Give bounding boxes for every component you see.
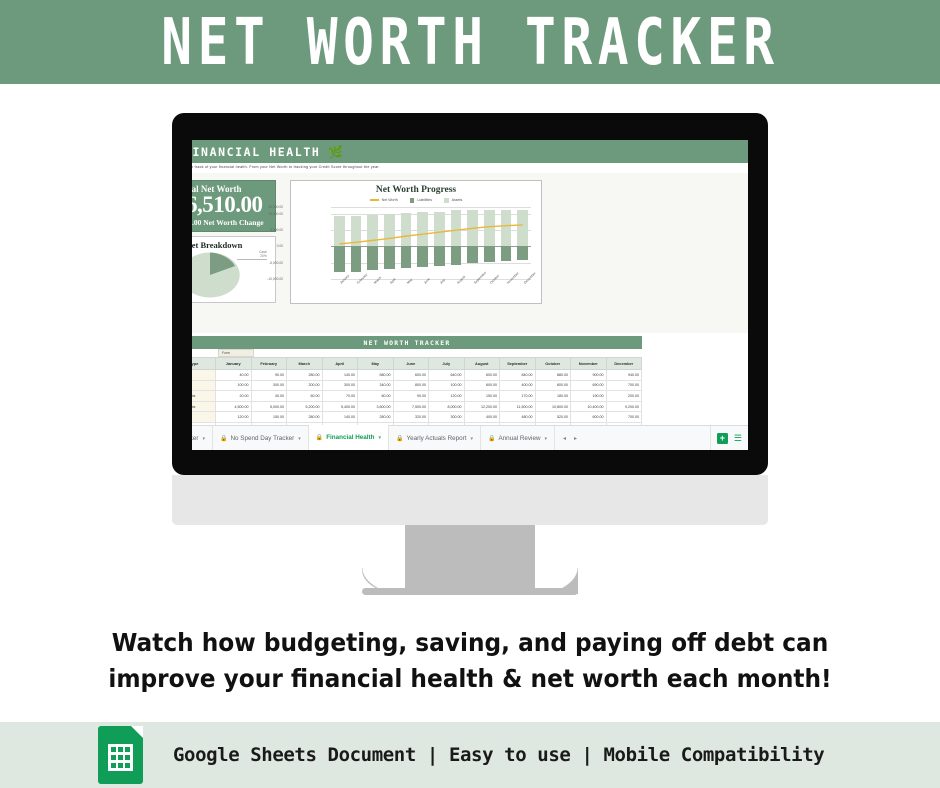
table-cell-value[interactable]: 190.00 bbox=[571, 391, 607, 402]
table-cell-type[interactable]: Investments bbox=[192, 391, 216, 402]
add-sheet-button[interactable]: + bbox=[717, 433, 728, 444]
sheet-tab-no-spend-day-tracker[interactable]: 🔒No Spend Day Tracker▾ bbox=[213, 426, 309, 450]
table-row[interactable]: Investments4,500.005,000.005,200.005,400… bbox=[192, 401, 642, 412]
table-cell-value[interactable]: 150.00 bbox=[251, 412, 287, 423]
table-cell-value[interactable]: 690.00 bbox=[571, 380, 607, 391]
table-cell-value[interactable]: 800.00 bbox=[393, 380, 429, 391]
table-cell-value[interactable]: 5,000.00 bbox=[251, 401, 287, 412]
table-cell-value[interactable]: 600.00 bbox=[464, 370, 500, 381]
table-row[interactable]: Investments20.0040.0060.0070.0080.0090.0… bbox=[192, 391, 642, 402]
table-cell-value[interactable]: 300.00 bbox=[429, 412, 465, 423]
legend-label: Assets bbox=[452, 198, 463, 202]
net-worth-progress-chart: Net Worth Progress Net Worth Liabilities bbox=[290, 180, 542, 304]
sheet-tab-list: racker▾🔒No Spend Day Tracker▾🔒Financial … bbox=[192, 425, 555, 450]
table-column-header: November bbox=[571, 358, 607, 370]
table-cell-value[interactable]: 580.00 bbox=[358, 370, 394, 381]
table-cell-value[interactable]: 40.00 bbox=[216, 370, 252, 381]
lock-icon: 🔒 bbox=[220, 436, 227, 442]
legend-item-net-worth: Net Worth bbox=[370, 198, 398, 202]
table-column-header: October bbox=[535, 358, 571, 370]
table-cell-type[interactable]: Cash bbox=[192, 380, 216, 391]
table-cell-type[interactable]: Cash bbox=[192, 370, 216, 381]
table-cell-value[interactable]: 300.00 bbox=[322, 380, 358, 391]
table-cell-value[interactable]: 70.00 bbox=[322, 391, 358, 402]
table-title: NET WORTH TRACKER bbox=[192, 336, 642, 349]
table-cell-value[interactable]: 10,800.00 bbox=[535, 401, 571, 412]
sheet-tab-nav[interactable]: ◂ ▸ bbox=[563, 435, 577, 442]
table-cell-value[interactable]: 400.00 bbox=[464, 412, 500, 423]
icon-page-fold bbox=[131, 726, 143, 738]
footer-text: Google Sheets Document | Easy to use | M… bbox=[173, 744, 824, 766]
pie-slice-label: Cash20% bbox=[259, 251, 267, 259]
poster-root: NET WORTH TRACKER FINANCIAL HEALTH 🌿 Kee… bbox=[0, 0, 940, 788]
chevron-down-icon[interactable]: ▾ bbox=[379, 435, 382, 441]
caption-line-2: improve your financial health & net wort… bbox=[33, 661, 907, 697]
table-column-header: December bbox=[606, 358, 642, 370]
legend-color-swatch bbox=[444, 198, 449, 203]
chart-title: Net Worth Progress bbox=[291, 185, 541, 195]
caption-line-1: Watch how budgeting, saving, and paying … bbox=[33, 625, 907, 661]
chevron-down-icon[interactable]: ▾ bbox=[545, 436, 548, 442]
chevron-down-icon[interactable]: ▾ bbox=[298, 436, 301, 442]
table-cell-value[interactable]: 280.00 bbox=[358, 412, 394, 423]
table-cell-value[interactable]: 400.00 bbox=[500, 380, 536, 391]
formula-hint-cell: Form bbox=[218, 349, 254, 357]
table-column-header: April bbox=[322, 358, 358, 370]
table-cell-value[interactable]: 3,600.00 bbox=[358, 401, 394, 412]
chart-y-tick-label: -5,000.00 bbox=[269, 261, 283, 265]
net-worth-change-value: $450.00 Net Worth Change bbox=[192, 218, 264, 227]
table-header-row: TypeJanuaryFebruaryMarchAprilMayJuneJuly… bbox=[192, 358, 642, 370]
monitor-stand-base bbox=[362, 588, 578, 595]
table-cell-value[interactable]: 90.00 bbox=[393, 391, 429, 402]
pie-leader-line bbox=[237, 259, 267, 260]
table-cell-value[interactable]: 4,500.00 bbox=[216, 401, 252, 412]
table-cell-value[interactable]: 520.00 bbox=[535, 412, 571, 423]
table-column-header: September bbox=[500, 358, 536, 370]
legend-item-assets: Assets bbox=[444, 198, 462, 203]
sheet-tab-bar: racker▾🔒No Spend Day Tracker▾🔒Financial … bbox=[192, 425, 748, 450]
table-cell-value[interactable]: 480.00 bbox=[500, 412, 536, 423]
sheet-tab-label: Yearly Actuals Report bbox=[407, 435, 467, 442]
google-sheets-icon bbox=[98, 726, 143, 784]
table-cell-value[interactable]: 600.00 bbox=[393, 370, 429, 381]
chart-legend: Net Worth Liabilities Assets bbox=[291, 198, 541, 203]
table-cell-value[interactable]: 300.00 bbox=[251, 380, 287, 391]
table-cell-value[interactable]: 120.00 bbox=[429, 391, 465, 402]
legend-item-liabilities: Liabilities bbox=[410, 198, 432, 203]
table-cell-value[interactable]: 800.00 bbox=[535, 380, 571, 391]
monitor-chin bbox=[172, 475, 768, 525]
table-cell-value[interactable]: 640.00 bbox=[429, 370, 465, 381]
table-column-header: January bbox=[216, 358, 252, 370]
table-cell-value[interactable]: 600.00 bbox=[464, 380, 500, 391]
sheet-tab-label: racker bbox=[192, 435, 199, 442]
chart-line-net-worth bbox=[331, 207, 531, 279]
legend-label: Net Worth bbox=[382, 198, 398, 202]
table-cell-value[interactable]: 940.00 bbox=[606, 370, 642, 381]
legend-label: Liabilities bbox=[417, 198, 432, 202]
sheet-tab-annual-review[interactable]: 🔒Annual Review▾ bbox=[481, 426, 555, 450]
leaf-icon: 🌿 bbox=[328, 146, 343, 158]
asset-breakdown-title: Asset Breakdown bbox=[192, 240, 242, 250]
table-cell-value[interactable]: 320.00 bbox=[393, 412, 429, 423]
table-cell-value[interactable]: 11,500.00 bbox=[500, 401, 536, 412]
table-cell-value[interactable]: 100.00 bbox=[216, 380, 252, 391]
table-cell-value[interactable]: 100.00 bbox=[429, 380, 465, 391]
table-column-header: February bbox=[251, 358, 287, 370]
table-cell-value[interactable]: 7,500.00 bbox=[393, 401, 429, 412]
table-cell-value[interactable]: 170.00 bbox=[500, 391, 536, 402]
table-cell-type[interactable]: Cash bbox=[192, 412, 216, 423]
sheet-section-subtitle: Keep track of your financial health. Fro… bbox=[192, 165, 724, 169]
monitor-mockup: FINANCIAL HEALTH 🌿 Keep track of your fi… bbox=[172, 113, 768, 475]
chevron-down-icon[interactable]: ▾ bbox=[203, 436, 206, 442]
table-cell-value[interactable]: 90.00 bbox=[251, 370, 287, 381]
table-row[interactable]: Cash100.00300.00200.00300.00340.00800.00… bbox=[192, 380, 642, 391]
table-cell-value[interactable]: 700.00 bbox=[606, 412, 642, 423]
table-column-header: March bbox=[287, 358, 323, 370]
spreadsheet-canvas: FINANCIAL HEALTH 🌿 Keep track of your fi… bbox=[192, 140, 748, 450]
monitor-screen: FINANCIAL HEALTH 🌿 Keep track of your fi… bbox=[192, 140, 748, 450]
sheet-section-title: FINANCIAL HEALTH bbox=[192, 145, 320, 159]
table-cell-value[interactable]: 700.00 bbox=[606, 380, 642, 391]
total-net-worth-card: Total Net Worth $6,510.00 $450.00 Net Wo… bbox=[192, 180, 276, 232]
table-cell-value[interactable]: 600.00 bbox=[571, 412, 607, 423]
table-cell-value[interactable]: 880.00 bbox=[535, 370, 571, 381]
lock-icon: 🔒 bbox=[396, 436, 403, 442]
all-sheets-icon[interactable]: ☰ bbox=[734, 434, 742, 443]
table-cell-value[interactable]: 12,200.00 bbox=[464, 401, 500, 412]
chart-y-tick-label: 12,000.00 bbox=[268, 205, 283, 209]
sheet-section-header: FINANCIAL HEALTH 🌿 bbox=[192, 140, 748, 163]
table-cell-value[interactable]: 200.00 bbox=[287, 380, 323, 391]
table-column-header: Type bbox=[192, 358, 216, 370]
net-worth-table-section: NET WORTH TRACKER Form TypeJanuaryFebrua… bbox=[192, 336, 748, 434]
legend-line-swatch bbox=[370, 199, 379, 201]
spreadsheet-app: FINANCIAL HEALTH 🌿 Keep track of your fi… bbox=[192, 140, 748, 450]
table-cell-type[interactable]: Investments bbox=[192, 401, 216, 412]
icon-grid bbox=[108, 744, 133, 771]
page-title: NET WORTH TRACKER bbox=[161, 10, 779, 74]
sheet-tab-partial[interactable]: racker▾ bbox=[192, 426, 213, 450]
table-cell-value[interactable]: 280.00 bbox=[287, 370, 323, 381]
table-row[interactable]: Cash40.0090.00280.00140.00580.00600.0064… bbox=[192, 370, 642, 381]
table-cell-value[interactable]: 280.00 bbox=[287, 412, 323, 423]
lock-icon: 🔒 bbox=[488, 436, 495, 442]
table-cell-value[interactable]: 40.00 bbox=[251, 391, 287, 402]
table-cell-value[interactable]: 5,400.00 bbox=[322, 401, 358, 412]
table-cell-value[interactable]: 150.00 bbox=[464, 391, 500, 402]
sheet-tab-financial-health[interactable]: 🔒Financial Health▾ bbox=[309, 425, 389, 450]
table-cell-value[interactable]: 9,200.00 bbox=[606, 401, 642, 412]
banner-divider bbox=[0, 84, 940, 89]
sheet-tab-label: No Spend Day Tracker bbox=[231, 435, 295, 442]
table-subheader-row: Form bbox=[192, 349, 643, 357]
table-column-header: August bbox=[464, 358, 500, 370]
table-column-header: June bbox=[393, 358, 429, 370]
sheet-tab-yearly-actuals-report[interactable]: 🔒Yearly Actuals Report▾ bbox=[389, 426, 481, 450]
table-cell-value[interactable]: 80.00 bbox=[358, 391, 394, 402]
legend-color-swatch bbox=[410, 198, 415, 203]
chevron-down-icon[interactable]: ▾ bbox=[470, 436, 473, 442]
table-cell-value[interactable]: 180.00 bbox=[535, 391, 571, 402]
chart-plot-area: 12,000.0010,000.005,000.000.00-5,000.00-… bbox=[331, 207, 531, 279]
table-column-header: May bbox=[358, 358, 394, 370]
table-cell-value[interactable]: 900.00 bbox=[571, 370, 607, 381]
total-net-worth-value: $6,510.00 bbox=[192, 192, 263, 218]
table-row[interactable]: Cash120.00150.00280.00140.00280.00320.00… bbox=[192, 412, 642, 423]
chart-y-tick-label: 0.00 bbox=[277, 244, 283, 248]
header-banner: NET WORTH TRACKER bbox=[0, 0, 940, 84]
table-cell-value[interactable]: 140.00 bbox=[322, 412, 358, 423]
sheet-tab-actions: + ☰ bbox=[710, 426, 748, 450]
chart-y-tick-label: 10,000.00 bbox=[268, 212, 283, 216]
tab-prev-icon[interactable]: ◂ bbox=[563, 435, 566, 442]
table-cell-value[interactable]: 340.00 bbox=[358, 380, 394, 391]
table-column-header: July bbox=[429, 358, 465, 370]
chart-y-tick-label: 5,000.00 bbox=[270, 228, 283, 232]
table-cell-value[interactable]: 10,400.00 bbox=[571, 401, 607, 412]
table-cell-value[interactable]: 200.00 bbox=[606, 391, 642, 402]
sheet-tab-label: Annual Review bbox=[498, 435, 540, 442]
chart-y-tick-label: -10,000.00 bbox=[267, 277, 283, 281]
asset-breakdown-pie-chart bbox=[192, 250, 243, 300]
marketing-caption: Watch how budgeting, saving, and paying … bbox=[33, 625, 907, 698]
footer-bar: Google Sheets Document | Easy to use | M… bbox=[0, 722, 940, 788]
table-cell-value[interactable]: 60.00 bbox=[287, 391, 323, 402]
table-cell-value[interactable]: 140.00 bbox=[322, 370, 358, 381]
table-cell-value[interactable]: 5,200.00 bbox=[287, 401, 323, 412]
table-cell-value[interactable]: 8,000.00 bbox=[429, 401, 465, 412]
tab-next-icon[interactable]: ▸ bbox=[574, 435, 577, 442]
monitor-stand-neck bbox=[405, 525, 535, 593]
table-cell-value[interactable]: 840.00 bbox=[500, 370, 536, 381]
lock-icon: 🔒 bbox=[316, 435, 323, 441]
table-cell-value[interactable]: 20.00 bbox=[216, 391, 252, 402]
sheet-tab-label: Financial Health bbox=[326, 434, 374, 441]
asset-breakdown-card: Asset Breakdown Cash20% bbox=[192, 236, 276, 303]
table-cell-value[interactable]: 120.00 bbox=[216, 412, 252, 423]
